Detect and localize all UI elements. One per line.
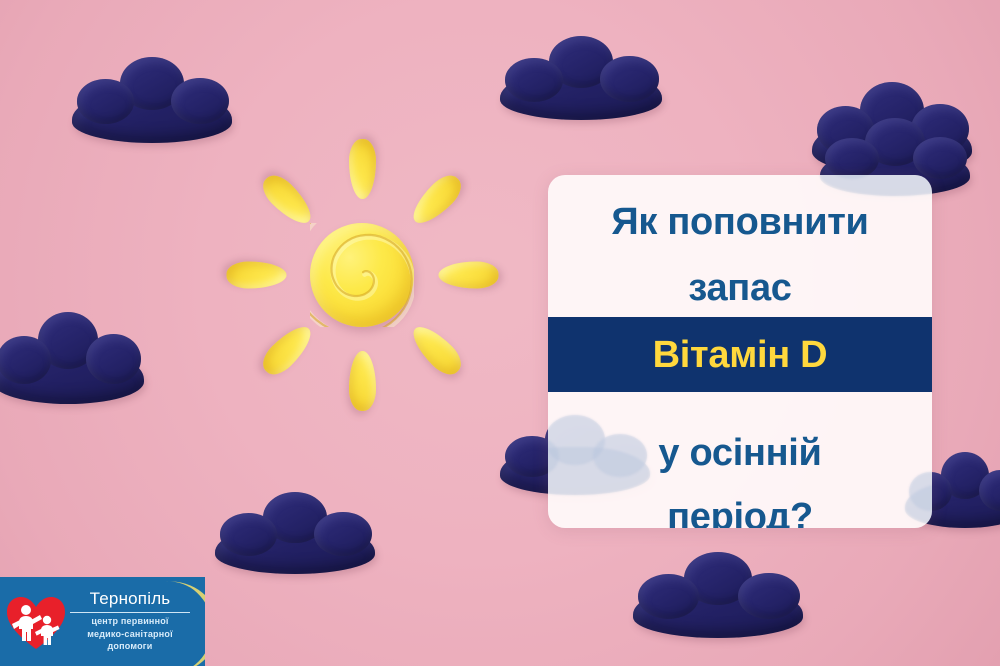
sun-spiral-icon (310, 223, 414, 327)
cloud-bottom-right (633, 552, 803, 638)
sun-ray (349, 351, 376, 411)
heart-with-figures-icon (6, 595, 66, 651)
cloud-bottom-left (215, 492, 375, 574)
headline-line-2: запас (548, 269, 932, 307)
cloud-lump (825, 138, 879, 179)
sun-ray (406, 169, 468, 231)
clinic-logo: Тернопіль центр первинної медико-санітар… (0, 577, 205, 666)
cloud-lump (738, 573, 799, 619)
cloud-lump (220, 513, 278, 556)
cloud-top-center (500, 36, 662, 120)
cloud-lump (77, 79, 135, 124)
headline-line-5: період? (548, 498, 932, 528)
cloud-lump (638, 574, 699, 619)
sun-ray (406, 319, 468, 381)
logo-subtitle-line-3: допомоги (62, 640, 198, 653)
sun-ray (226, 262, 286, 289)
cloud-lump (913, 137, 967, 179)
cloud-lump (86, 334, 141, 384)
headline-card: Як поповнити запас Вітамін D у осінній п… (548, 175, 932, 528)
headline-line-3: Вітамін D (653, 336, 828, 374)
cloud-top-left (72, 57, 232, 143)
cloud-lump (505, 58, 563, 102)
cloud-lump (600, 56, 658, 101)
sun-graphic (212, 125, 512, 425)
sun-core (310, 223, 414, 327)
logo-subtitle-line-1: центр первинної (62, 615, 198, 628)
logo-subtitle: центр первинної медико-санітарної допомо… (62, 615, 198, 653)
cloud-lump (314, 512, 372, 556)
cloud-mid-left (0, 312, 144, 404)
vitamin-band: Вітамін D (548, 317, 932, 392)
sun-ray (438, 262, 498, 289)
sun-ray (349, 139, 376, 199)
sun-ray (256, 169, 318, 231)
headline-line-1: Як поповнити (548, 203, 932, 241)
cloud-lump (171, 78, 229, 124)
sun-ray (256, 319, 318, 381)
logo-subtitle-line-2: медико-санітарної (62, 628, 198, 641)
logo-city-name: Тернопіль (70, 589, 190, 609)
poster-canvas: Як поповнити запас Вітамін D у осінній п… (0, 0, 1000, 666)
cloud-lump (0, 336, 51, 384)
logo-divider (70, 612, 190, 613)
